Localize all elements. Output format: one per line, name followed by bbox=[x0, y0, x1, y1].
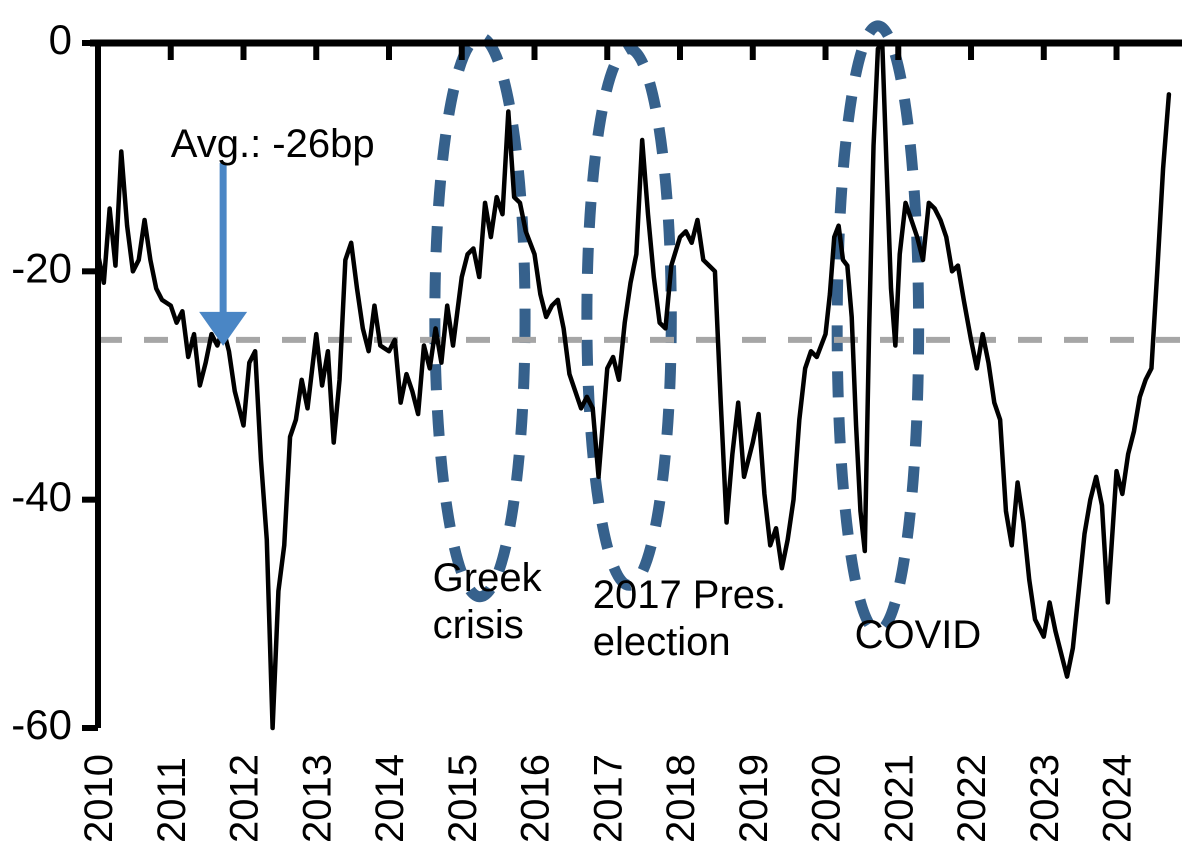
x-tick-label: 2020 bbox=[805, 754, 849, 843]
avg-label: Avg.: -26bp bbox=[171, 122, 375, 166]
greek-crisis-label-line2: crisis bbox=[433, 603, 524, 647]
x-tick-label: 2019 bbox=[732, 754, 776, 843]
x-tick-label: 2024 bbox=[1096, 754, 1140, 843]
x-tick-label: 2015 bbox=[441, 754, 485, 843]
y-tick-label: 0 bbox=[49, 16, 72, 63]
x-tick-label: 2017 bbox=[586, 754, 630, 843]
x-tick-label: 2013 bbox=[295, 754, 339, 843]
pres-election-label-line1: 2017 Pres. bbox=[593, 573, 786, 617]
x-tick-label: 2021 bbox=[877, 754, 921, 843]
x-tick-label: 2010 bbox=[77, 754, 121, 843]
x-tick-label: 2014 bbox=[368, 754, 412, 843]
y-tick-label: -60 bbox=[11, 701, 72, 748]
y-tick-label: -40 bbox=[11, 473, 72, 520]
line-chart: 0-20-40-60 20102011201220132014201520162… bbox=[0, 0, 1200, 852]
pres-election-label-line2: election bbox=[593, 620, 731, 664]
y-tick-label: -20 bbox=[11, 244, 72, 291]
x-tick-label: 2023 bbox=[1023, 754, 1067, 843]
x-tick-label: 2011 bbox=[150, 757, 194, 843]
chart-container: 0-20-40-60 20102011201220132014201520162… bbox=[0, 0, 1200, 852]
x-tick-labels: 2010201120122013201420152016201720182019… bbox=[77, 754, 1140, 843]
x-tick-label: 2012 bbox=[223, 754, 267, 843]
x-tick-label: 2022 bbox=[950, 754, 994, 843]
x-tick-label: 2016 bbox=[514, 754, 558, 843]
greek-crisis-label-line1: Greek bbox=[433, 556, 543, 600]
x-tick-label: 2018 bbox=[659, 754, 703, 843]
covid-label: COVID bbox=[855, 613, 982, 657]
